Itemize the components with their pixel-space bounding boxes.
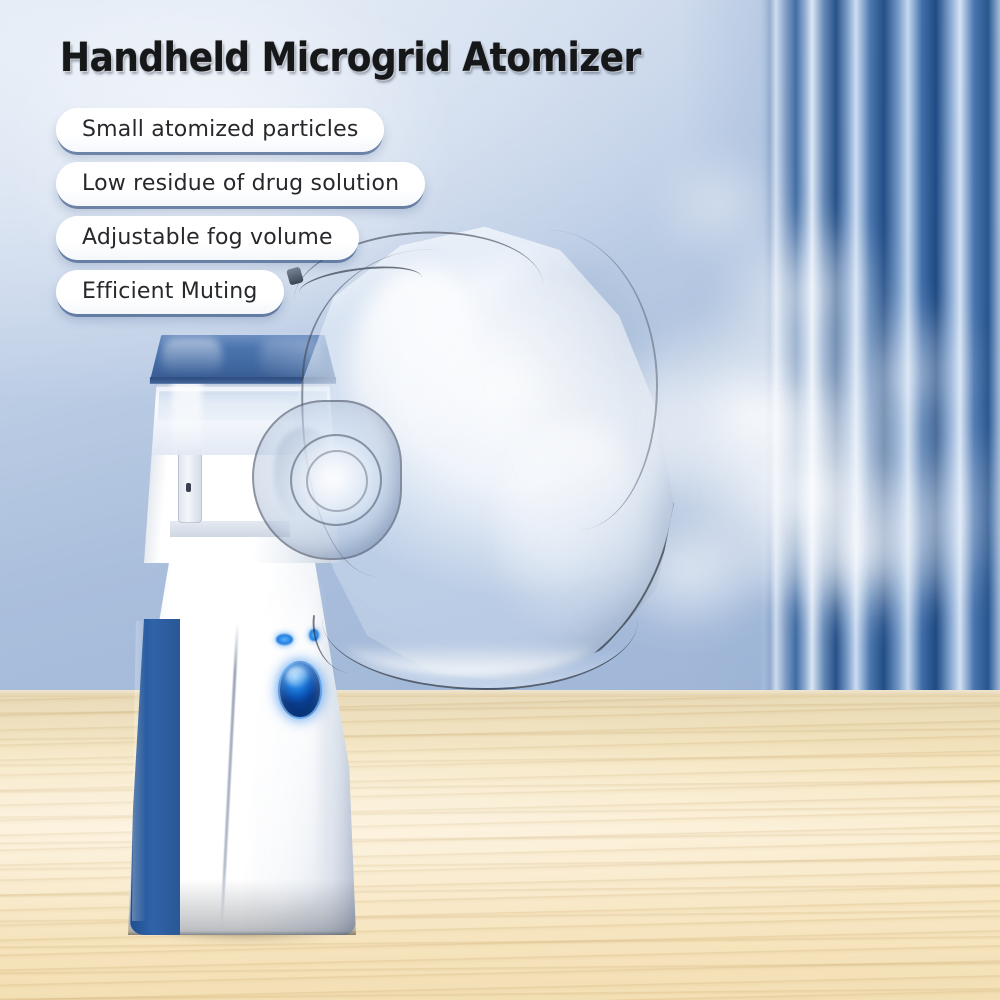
device-stripe-highlight	[132, 621, 146, 921]
feature-pill-4: Efficient Muting	[56, 270, 284, 314]
page-title: Handheld Microgrid Atomizer	[60, 35, 641, 81]
chamber-gloss	[172, 373, 202, 453]
feature-pill-1: Small atomized particles	[56, 108, 384, 152]
product-banner: Handheld Microgrid Atomizer Small atomiz…	[0, 0, 1000, 1000]
vent-pin-hole-icon	[186, 483, 191, 492]
throat-ring-inner	[306, 450, 368, 512]
feature-pill-2: Low residue of drug solution	[56, 162, 425, 206]
feature-pill-3: Adjustable fog volume	[56, 216, 359, 260]
cap-highlight-left	[162, 338, 222, 376]
feature-list: Small atomized particles Low residue of …	[56, 108, 425, 324]
mask-left-tail	[307, 615, 372, 675]
